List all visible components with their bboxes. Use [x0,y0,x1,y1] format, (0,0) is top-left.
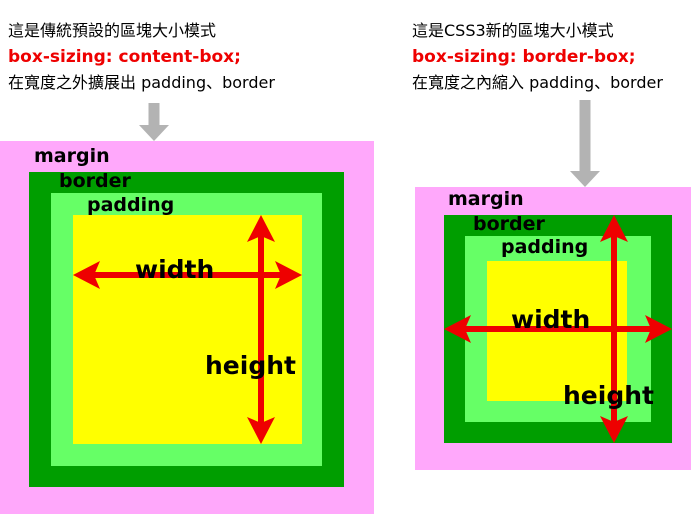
border-label-left: border [59,172,131,191]
arrow-head [570,171,600,187]
height-label-left: height [205,353,296,378]
grey-down-arrow-icon-left [139,103,169,141]
arrow-head [139,125,169,141]
content-box-diagram: margin border padding width height [0,141,374,514]
height-label-right: height [563,383,654,408]
margin-label-left: margin [34,147,110,166]
grey-down-arrow-icon-right [570,100,600,187]
left-caption-line-1: 這是傳統預設的區塊大小模式 [8,18,275,44]
right-caption-block: 這是CSS3新的區塊大小模式 box-sizing: border-box; 在… [412,18,663,96]
right-caption-code: box-sizing: border-box; [412,44,663,70]
arrow-shaft [580,100,591,172]
diagram-canvas: 這是傳統預設的區塊大小模式 box-sizing: content-box; 在… [0,0,700,514]
padding-label-left: padding [87,196,174,215]
left-caption-line-3: 在寬度之外擴展出 padding、border [8,70,275,96]
arrow-shaft [149,103,160,127]
left-caption-code: box-sizing: content-box; [8,44,275,70]
right-caption-line-3: 在寬度之內縮入 padding、border [412,70,663,96]
left-caption-block: 這是傳統預設的區塊大小模式 box-sizing: content-box; 在… [8,18,275,96]
border-label-right: border [473,215,545,234]
margin-label-right: margin [448,190,524,209]
measurement-arrows-left [0,141,374,514]
width-label-left: width [135,257,214,282]
right-caption-line-1: 這是CSS3新的區塊大小模式 [412,18,663,44]
width-label-right: width [511,307,590,332]
border-box-diagram: margin border padding width height [415,187,691,470]
padding-label-right: padding [501,238,588,257]
